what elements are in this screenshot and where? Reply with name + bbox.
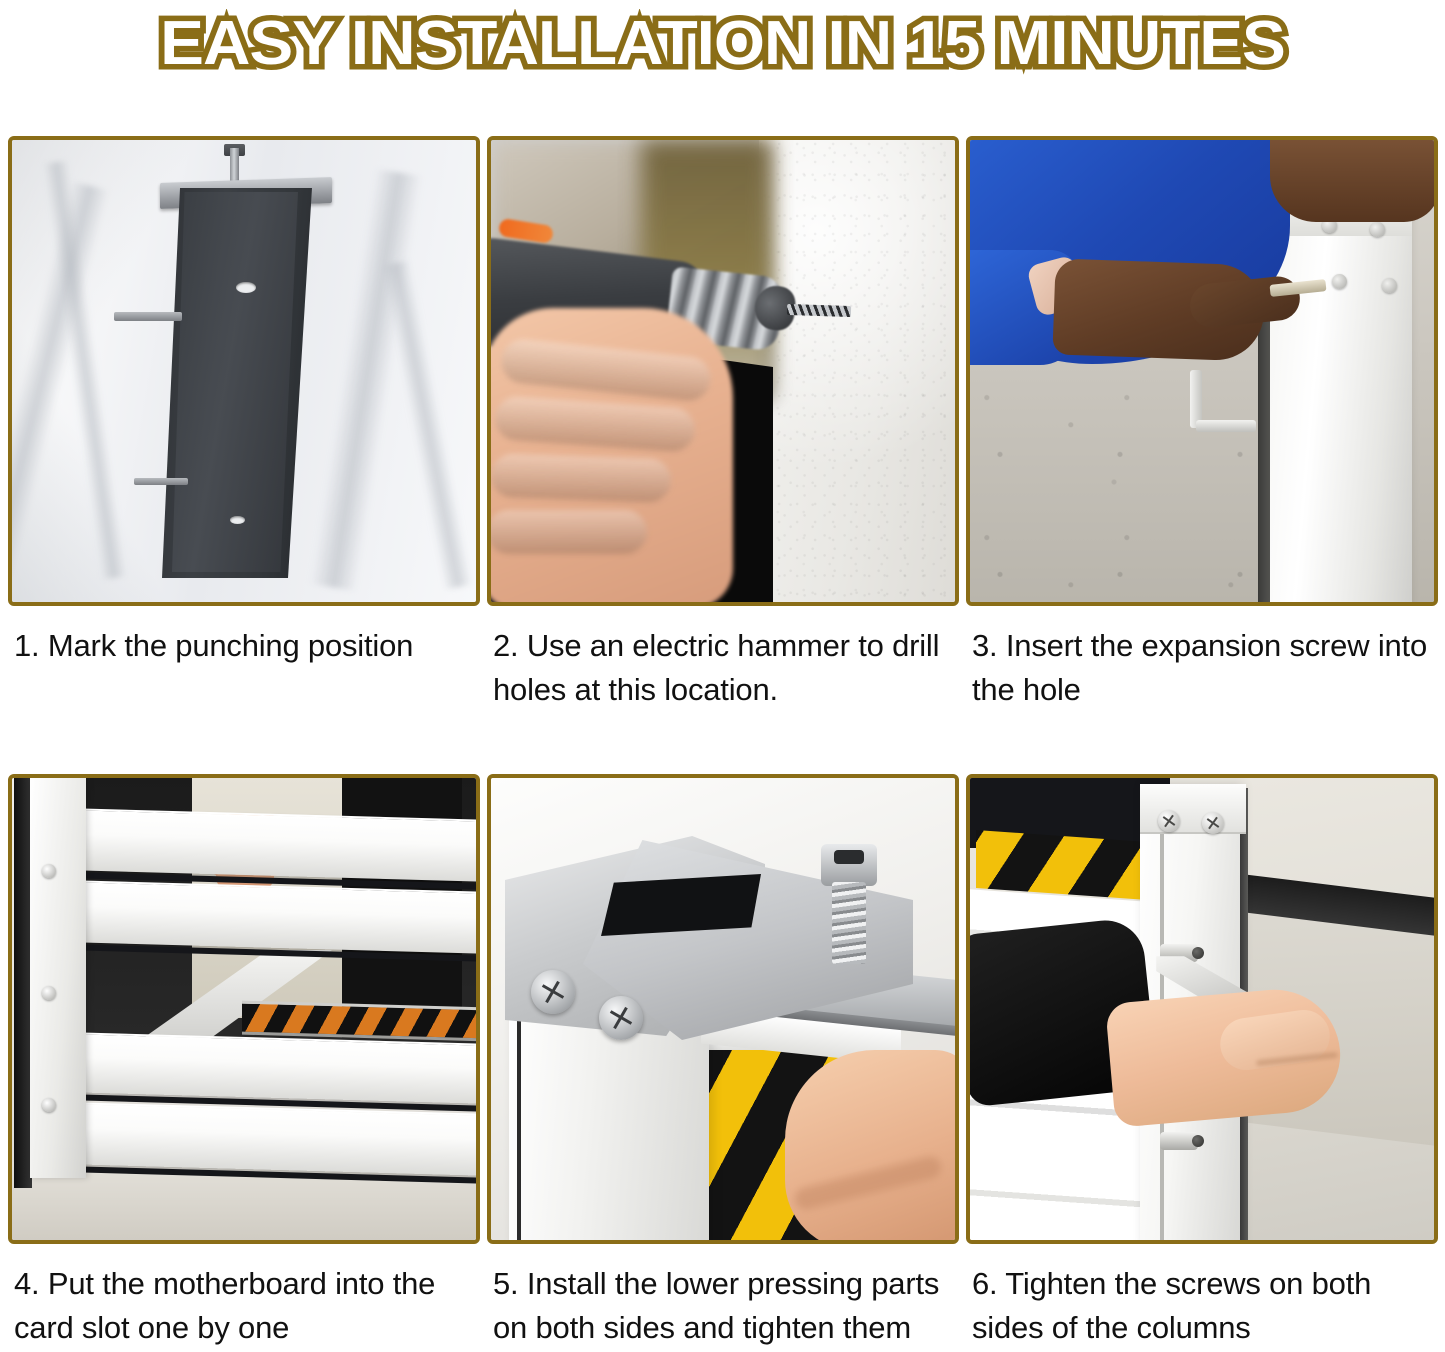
hex-socket-bolt-icon bbox=[821, 844, 877, 970]
hazard-stripe-tape bbox=[242, 1001, 476, 1042]
step-photo-5 bbox=[487, 774, 959, 1244]
barrier-board bbox=[74, 808, 476, 882]
step-card-1: 1. Mark the punching position bbox=[8, 136, 480, 744]
step-card-5: 5. Install the lower pressing parts on b… bbox=[487, 774, 959, 1350]
step-caption-3: 3. Insert the expansion screw into the h… bbox=[966, 606, 1438, 744]
hazard-stripe-tape bbox=[976, 830, 1148, 900]
column-screw-icon bbox=[1202, 812, 1224, 834]
mounting-hole-icon bbox=[230, 516, 245, 524]
barrier-board bbox=[74, 1032, 476, 1104]
step-card-4: 4. Put the motherboard into the card slo… bbox=[8, 774, 480, 1350]
step-photo-4 bbox=[8, 774, 480, 1244]
step-card-3: 3. Insert the expansion screw into the h… bbox=[966, 136, 1438, 744]
installation-guide-page: EASY INSTALLATION IN 15 MINUTES bbox=[0, 0, 1445, 1352]
page-title-banner: EASY INSTALLATION IN 15 MINUTES bbox=[0, 0, 1445, 88]
step-card-6: 6. Tighten the screws on both sides of t… bbox=[966, 774, 1438, 1350]
hand bbox=[785, 1050, 955, 1240]
mounting-hole-icon bbox=[236, 282, 256, 293]
step-caption-4: 4. Put the motherboard into the card slo… bbox=[8, 1244, 480, 1350]
phillips-screw-icon bbox=[531, 970, 575, 1014]
side-screw-icon bbox=[1160, 1132, 1198, 1150]
side-bolt-icon bbox=[114, 312, 182, 321]
step-caption-5: 5. Install the lower pressing parts on b… bbox=[487, 1244, 959, 1350]
card-slot-column bbox=[30, 778, 86, 1178]
column-screw-icon bbox=[1158, 810, 1180, 832]
barrier-board bbox=[74, 880, 476, 954]
barrier-board bbox=[74, 1102, 476, 1176]
step-photo-1 bbox=[8, 136, 480, 606]
step-photo-3 bbox=[966, 136, 1438, 606]
step-caption-2: 2. Use an electric hammer to drill holes… bbox=[487, 606, 959, 744]
step-caption-1: 1. Mark the punching position bbox=[8, 606, 480, 744]
column-screw-icon bbox=[42, 864, 56, 878]
expansion-screw-icon bbox=[1382, 278, 1397, 293]
allen-key-icon bbox=[1190, 370, 1256, 438]
expansion-screw-icon bbox=[1332, 274, 1347, 289]
column-screw-icon bbox=[42, 986, 56, 1000]
phillips-screw-icon bbox=[599, 996, 643, 1040]
side-bolt-icon bbox=[134, 478, 188, 485]
steps-grid: 1. Mark the punching position bbox=[8, 136, 1438, 1350]
step-caption-6: 6. Tighten the screws on both sides of t… bbox=[966, 1244, 1438, 1350]
drill-bit-icon bbox=[787, 304, 851, 317]
step-photo-2 bbox=[487, 136, 959, 606]
column-screw-icon bbox=[42, 1098, 56, 1112]
worker-right-arm bbox=[1270, 140, 1434, 222]
expansion-screw-icon bbox=[1370, 222, 1385, 237]
step-card-2: 2. Use an electric hammer to drill holes… bbox=[487, 136, 959, 744]
step-photo-6 bbox=[966, 774, 1438, 1244]
page-title: EASY INSTALLATION IN 15 MINUTES bbox=[160, 13, 1285, 75]
